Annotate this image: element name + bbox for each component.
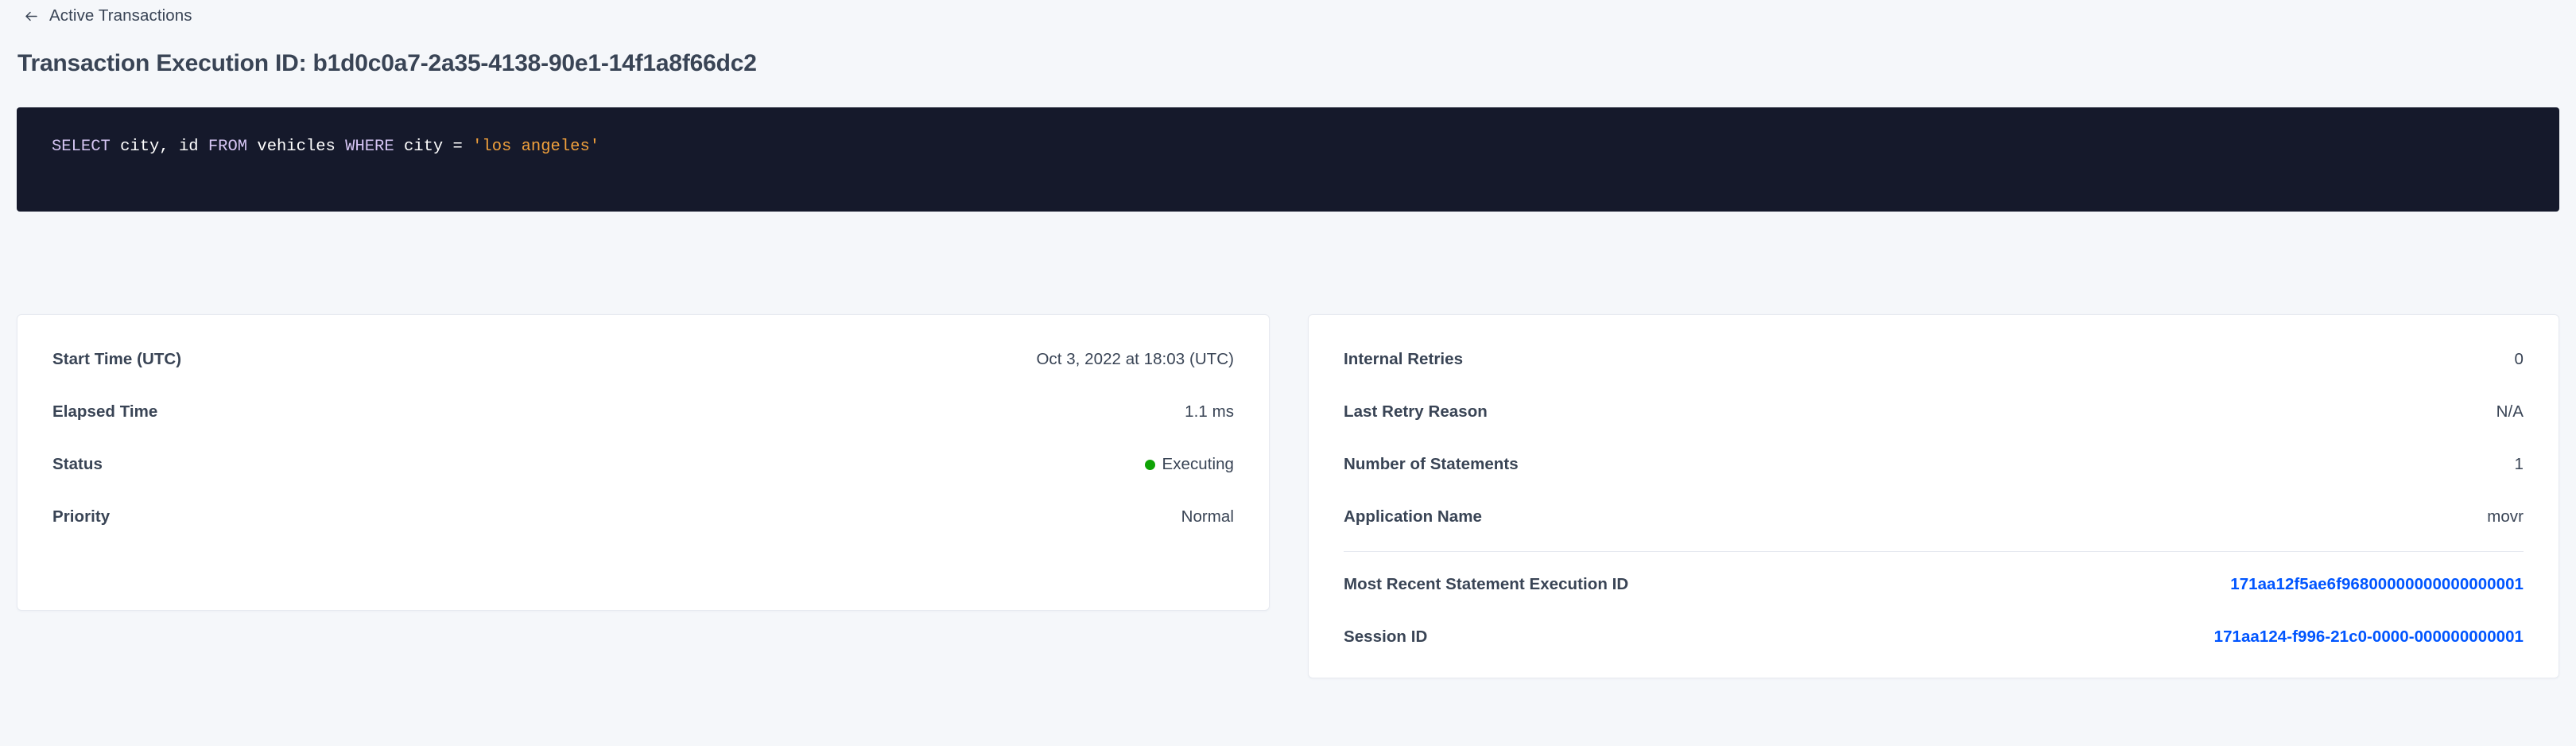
detail-row-label: Elapsed Time bbox=[52, 402, 157, 422]
detail-row-label: Number of Statements bbox=[1344, 455, 1519, 474]
detail-row: StatusExecuting bbox=[52, 438, 1234, 491]
transaction-details-card: Internal Retries0Last Retry ReasonN/ANum… bbox=[1308, 314, 2559, 678]
detail-row: Application Namemovr bbox=[1344, 491, 2524, 543]
detail-row-value: Oct 3, 2022 at 18:03 (UTC) bbox=[1036, 350, 1234, 369]
transaction-details-rows: Internal Retries0Last Retry ReasonN/ANum… bbox=[1309, 315, 2559, 663]
detail-row: Elapsed Time1.1 ms bbox=[52, 386, 1234, 438]
detail-row-label: Start Time (UTC) bbox=[52, 350, 181, 369]
transaction-overview-rows: Start Time (UTC)Oct 3, 2022 at 18:03 (UT… bbox=[17, 315, 1269, 543]
sql-query-block: SELECT city, id FROM vehicles WHERE city… bbox=[17, 107, 2559, 212]
detail-row-label: Session ID bbox=[1344, 627, 1427, 647]
detail-row-value: movr bbox=[2487, 507, 2524, 526]
sql-token-plain bbox=[394, 138, 404, 156]
sql-token-identifier: id bbox=[179, 138, 199, 156]
page-title: Transaction Execution ID: b1d0c0a7-2a35-… bbox=[17, 49, 757, 78]
sql-token-plain bbox=[199, 138, 208, 156]
detail-row-value: Normal bbox=[1181, 507, 1234, 526]
detail-row: Most Recent Statement Execution ID171aa1… bbox=[1344, 558, 2524, 611]
sql-token-keyword: SELECT bbox=[52, 138, 111, 156]
detail-row-label: Internal Retries bbox=[1344, 350, 1463, 369]
detail-row-link[interactable]: 171aa12f5ae6f96800000000000000001 bbox=[2230, 575, 2524, 594]
sql-token-string: 'los angeles' bbox=[472, 138, 599, 156]
detail-row-link[interactable]: 171aa124-f996-21c0-0000-000000000001 bbox=[2214, 627, 2524, 647]
section-divider bbox=[1344, 551, 2524, 552]
breadcrumb[interactable]: Active Transactions bbox=[24, 5, 192, 27]
detail-row-label: Priority bbox=[52, 507, 110, 526]
detail-row-value: N/A bbox=[2496, 402, 2524, 422]
breadcrumb-link-active-transactions[interactable]: Active Transactions bbox=[49, 8, 192, 25]
sql-token-plain bbox=[336, 138, 345, 156]
detail-row-value: 0 bbox=[2515, 350, 2524, 369]
sql-token-identifier: city, bbox=[120, 138, 169, 156]
sql-token-plain bbox=[463, 138, 472, 156]
detail-row-value: 1.1 ms bbox=[1185, 402, 1234, 422]
sql-token-keyword: FROM bbox=[208, 138, 247, 156]
detail-row: Internal Retries0 bbox=[1344, 333, 2524, 386]
transaction-overview-card: Start Time (UTC)Oct 3, 2022 at 18:03 (UT… bbox=[17, 314, 1270, 611]
status-badge: Executing bbox=[1145, 455, 1234, 474]
sql-query-text: SELECT city, id FROM vehicles WHERE city… bbox=[52, 138, 2524, 157]
sql-token-plain bbox=[111, 138, 120, 156]
sql-token-plain bbox=[247, 138, 257, 156]
sql-token-identifier: city bbox=[404, 138, 443, 156]
detail-row-label: Most Recent Statement Execution ID bbox=[1344, 575, 1628, 594]
detail-row: Start Time (UTC)Oct 3, 2022 at 18:03 (UT… bbox=[52, 333, 1234, 386]
sql-token-operator: = bbox=[453, 138, 463, 156]
arrow-left-icon[interactable] bbox=[24, 9, 39, 24]
detail-row: Number of Statements1 bbox=[1344, 438, 2524, 491]
detail-row-label: Status bbox=[52, 455, 103, 474]
sql-token-plain bbox=[443, 138, 452, 156]
detail-row-label: Application Name bbox=[1344, 507, 1482, 526]
detail-row-value: 1 bbox=[2515, 455, 2524, 474]
detail-row: PriorityNormal bbox=[52, 491, 1234, 543]
transaction-details-page: Active Transactions Transaction Executio… bbox=[0, 0, 2576, 746]
sql-token-plain bbox=[169, 138, 179, 156]
detail-row: Session ID171aa124-f996-21c0-0000-000000… bbox=[1344, 611, 2524, 663]
detail-row-label: Last Retry Reason bbox=[1344, 402, 1488, 422]
sql-token-identifier: vehicles bbox=[257, 138, 335, 156]
status-label: Executing bbox=[1162, 455, 1234, 474]
detail-row: Last Retry ReasonN/A bbox=[1344, 386, 2524, 438]
status-dot-icon bbox=[1145, 460, 1155, 470]
sql-token-keyword: WHERE bbox=[345, 138, 394, 156]
